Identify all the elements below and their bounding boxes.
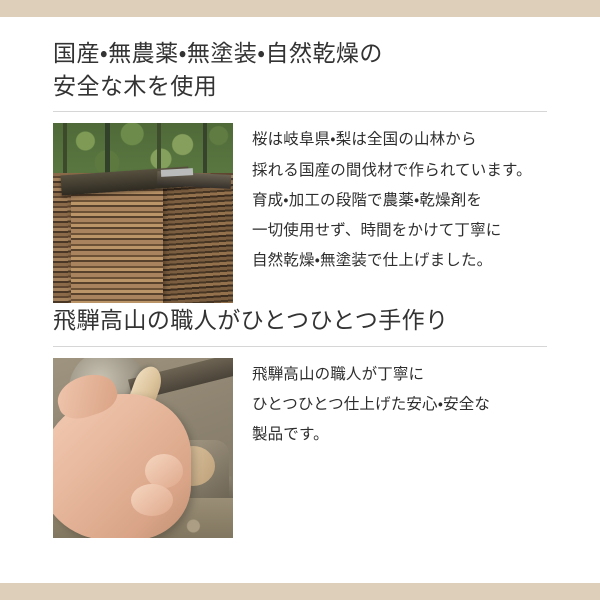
section-1-divider [53, 111, 547, 112]
lumber-stack-front [71, 185, 163, 303]
section-handmade: 飛騨高山の職人がひとつひとつ手作り 飛騨高山の職人が丁寧に ひとつひとつ仕上げた… [53, 304, 547, 538]
section-1-heading: 国産・無農薬・無塗装・自然乾燥の 安全な木を使用 [53, 37, 547, 102]
top-accent-band [0, 0, 600, 17]
lumber-stack-photo [53, 123, 233, 303]
section-2-body: 飛騨高山の職人が丁寧に ひとつひとつ仕上げた安心・安全な 製品です。 [252, 358, 490, 451]
section-2-divider [53, 346, 547, 347]
bottom-accent-band [0, 583, 600, 600]
content-page: 国産・無農薬・無塗装・自然乾燥の 安全な木を使用 桜は岐阜県・梨は全国の山林から… [0, 17, 600, 583]
section-natural-wood: 国産・無農薬・無塗装・自然乾燥の 安全な木を使用 桜は岐阜県・梨は全国の山林から… [53, 37, 547, 303]
section-2-heading: 飛騨高山の職人がひとつひとつ手作り [53, 304, 547, 337]
section-2-content: 飛騨高山の職人が丁寧に ひとつひとつ仕上げた安心・安全な 製品です。 [53, 358, 547, 538]
section-1-content: 桜は岐阜県・梨は全国の山林から 採れる国産の間伐材で作られています。 育成・加工… [53, 123, 547, 303]
section-1-body: 桜は岐阜県・梨は全国の山林から 採れる国産の間伐材で作られています。 育成・加工… [252, 123, 532, 276]
hand-knuckle-upper [145, 454, 183, 488]
hand-knuckle-lower [131, 484, 173, 516]
craftsman-lathe-photo [53, 358, 233, 538]
lumber-stack-right [163, 181, 233, 303]
